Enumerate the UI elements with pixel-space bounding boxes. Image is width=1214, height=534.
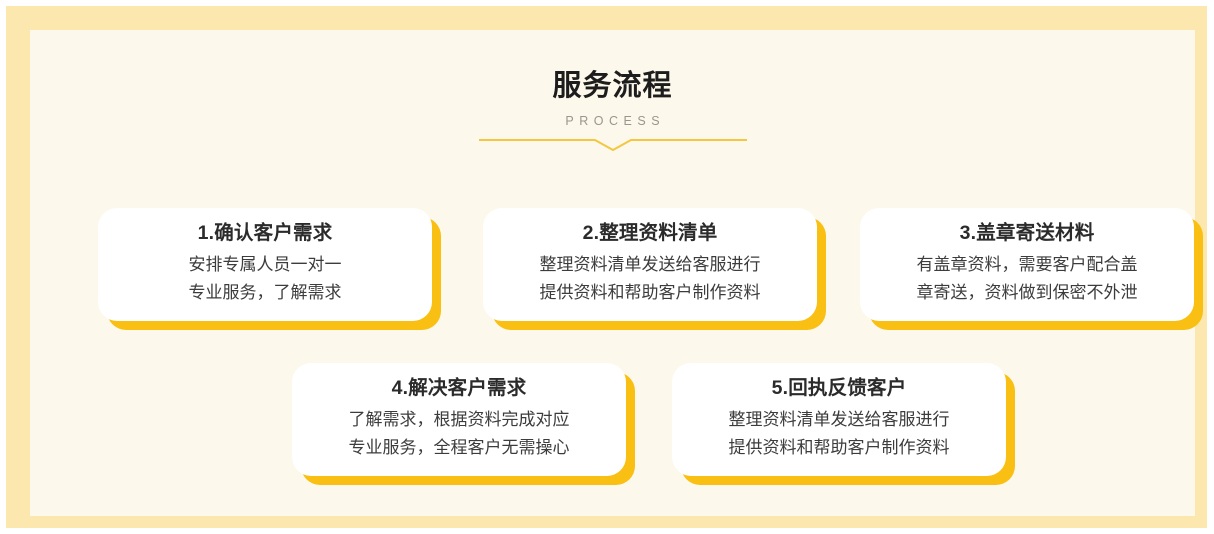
card-body: 1.确认客户需求 安排专属人员一对一 专业服务，了解需求 — [98, 208, 432, 321]
card-body: 3.盖章寄送材料 有盖章资料，需要客户配合盖 章寄送，资料做到保密不外泄 — [860, 208, 1194, 321]
card-description-line: 提供资料和帮助客户制作资料 — [729, 434, 950, 462]
card-description-line: 整理资料清单发送给客服进行 — [729, 406, 950, 434]
card-description-line: 专业服务，全程客户无需操心 — [349, 434, 570, 462]
card-description-line: 整理资料清单发送给客服进行 — [540, 251, 761, 279]
process-step-card[interactable]: 3.盖章寄送材料 有盖章资料，需要客户配合盖 章寄送，资料做到保密不外泄 — [860, 208, 1194, 321]
card-description-line: 了解需求，根据资料完成对应 — [349, 406, 570, 434]
process-step-card[interactable]: 2.整理资料清单 整理资料清单发送给客服进行 提供资料和帮助客户制作资料 — [483, 208, 817, 321]
process-step-card[interactable]: 1.确认客户需求 安排专属人员一对一 专业服务，了解需求 — [98, 208, 432, 321]
card-description: 了解需求，根据资料完成对应 专业服务，全程客户无需操心 — [349, 406, 570, 462]
divider-with-v-notch-icon — [479, 137, 747, 153]
process-step-card[interactable]: 4.解决客户需求 了解需求，根据资料完成对应 专业服务，全程客户无需操心 — [292, 363, 626, 476]
card-description-line: 专业服务，了解需求 — [189, 279, 342, 307]
card-title: 4.解决客户需求 — [392, 375, 527, 401]
card-description: 安排专属人员一对一 专业服务，了解需求 — [189, 251, 342, 307]
poster-header: 服务流程 PROCESS — [30, 68, 1195, 153]
poster-inner-canvas: 服务流程 PROCESS 1.确认客户需求 安排专属人员一对一 专业服务，了解需… — [30, 30, 1195, 516]
card-title: 3.盖章寄送材料 — [960, 220, 1095, 246]
process-step-card[interactable]: 5.回执反馈客户 整理资料清单发送给客服进行 提供资料和帮助客户制作资料 — [672, 363, 1006, 476]
card-description: 有盖章资料，需要客户配合盖 章寄送，资料做到保密不外泄 — [917, 251, 1138, 307]
page-subtitle: PROCESS — [30, 113, 1195, 129]
card-title: 2.整理资料清单 — [583, 220, 718, 246]
process-poster: 服务流程 PROCESS 1.确认客户需求 安排专属人员一对一 专业服务，了解需… — [0, 0, 1214, 534]
page-title: 服务流程 — [30, 68, 1195, 104]
card-description-line: 提供资料和帮助客户制作资料 — [540, 279, 761, 307]
card-body: 4.解决客户需求 了解需求，根据资料完成对应 专业服务，全程客户无需操心 — [292, 363, 626, 476]
card-description-line: 安排专属人员一对一 — [189, 251, 342, 279]
card-body: 2.整理资料清单 整理资料清单发送给客服进行 提供资料和帮助客户制作资料 — [483, 208, 817, 321]
card-description-line: 有盖章资料，需要客户配合盖 — [917, 251, 1138, 279]
card-description: 整理资料清单发送给客服进行 提供资料和帮助客户制作资料 — [729, 406, 950, 462]
card-title: 5.回执反馈客户 — [772, 375, 907, 401]
card-description-line: 章寄送，资料做到保密不外泄 — [917, 279, 1138, 307]
card-description: 整理资料清单发送给客服进行 提供资料和帮助客户制作资料 — [540, 251, 761, 307]
decorative-frame-band: 服务流程 PROCESS 1.确认客户需求 安排专属人员一对一 专业服务，了解需… — [6, 6, 1207, 528]
card-body: 5.回执反馈客户 整理资料清单发送给客服进行 提供资料和帮助客户制作资料 — [672, 363, 1006, 476]
card-title: 1.确认客户需求 — [198, 220, 333, 246]
